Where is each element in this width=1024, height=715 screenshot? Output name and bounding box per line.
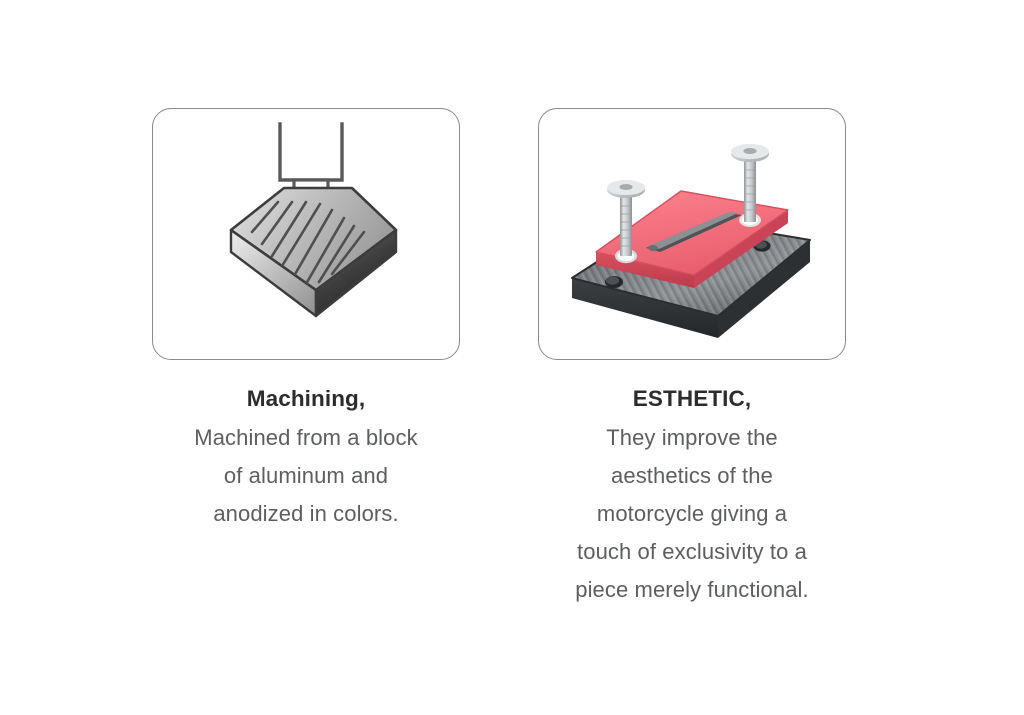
card-heading-machining: Machining, xyxy=(141,386,471,413)
card-text-machining: Machining, Machined from a block of alum… xyxy=(141,386,471,533)
body-line: aesthetics of the xyxy=(527,457,857,495)
feature-grid: Machining, Machined from a block of alum… xyxy=(0,0,1024,715)
body-line: touch of exclusivity to a xyxy=(527,533,857,571)
body-line: They improve the xyxy=(527,419,857,457)
machined-block-icon xyxy=(231,188,396,316)
body-line: Machined from a block xyxy=(141,419,471,457)
body-line: of aluminum and xyxy=(141,457,471,495)
body-line: anodized in colors. xyxy=(141,495,471,533)
card-body-esthetic: They improve the aesthetics of the motor… xyxy=(527,419,857,609)
icon-frame-machining xyxy=(152,108,460,360)
feature-card-esthetic: ESTHETIC, They improve the aesthetics of… xyxy=(537,108,847,609)
card-body-machining: Machined from a block of aluminum and an… xyxy=(141,419,471,533)
body-line: piece merely functional. xyxy=(527,571,857,609)
feature-card-machining: Machining, Machined from a block of alum… xyxy=(151,108,461,533)
card-text-esthetic: ESTHETIC, They improve the aesthetics of… xyxy=(527,386,857,609)
base-hole-left-inner xyxy=(606,276,619,284)
anodized-plate-with-screws-icon xyxy=(542,110,842,358)
body-line: motorcycle giving a xyxy=(527,495,857,533)
spindle-holder-icon xyxy=(280,124,342,180)
icon-frame-esthetic xyxy=(538,108,846,360)
card-heading-esthetic: ESTHETIC, xyxy=(527,386,857,413)
cnc-milling-icon xyxy=(156,110,456,358)
